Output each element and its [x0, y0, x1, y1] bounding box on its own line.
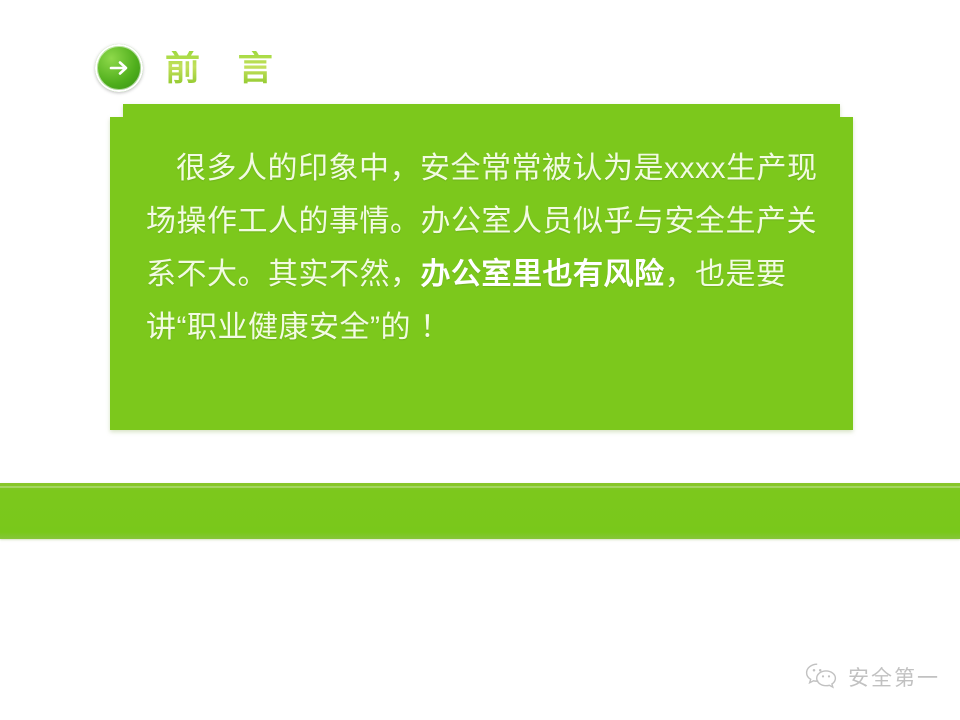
wechat-icon — [805, 662, 839, 692]
footer-watermark: 安全第一 — [805, 662, 940, 692]
paragraph-part-2-bold: 办公室里也有风险 — [421, 258, 665, 291]
page-title: 前 言 — [165, 51, 287, 86]
watermark-label: 安全第一 — [848, 662, 940, 692]
slide-header: 前 言 — [95, 38, 287, 98]
slide-canvas: 前 言 很多人的印象中，安全常常被认为是xxxx生产现场操作工人的事情。办公室人… — [0, 0, 960, 720]
content-card: 很多人的印象中，安全常常被认为是xxxx生产现场操作工人的事情。办公室人员似乎与… — [110, 104, 853, 430]
card-paragraph: 很多人的印象中，安全常常被认为是xxxx生产现场操作工人的事情。办公室人员似乎与… — [146, 142, 825, 354]
arrow-right-circle-icon — [95, 44, 143, 92]
decorative-green-band — [0, 483, 960, 539]
